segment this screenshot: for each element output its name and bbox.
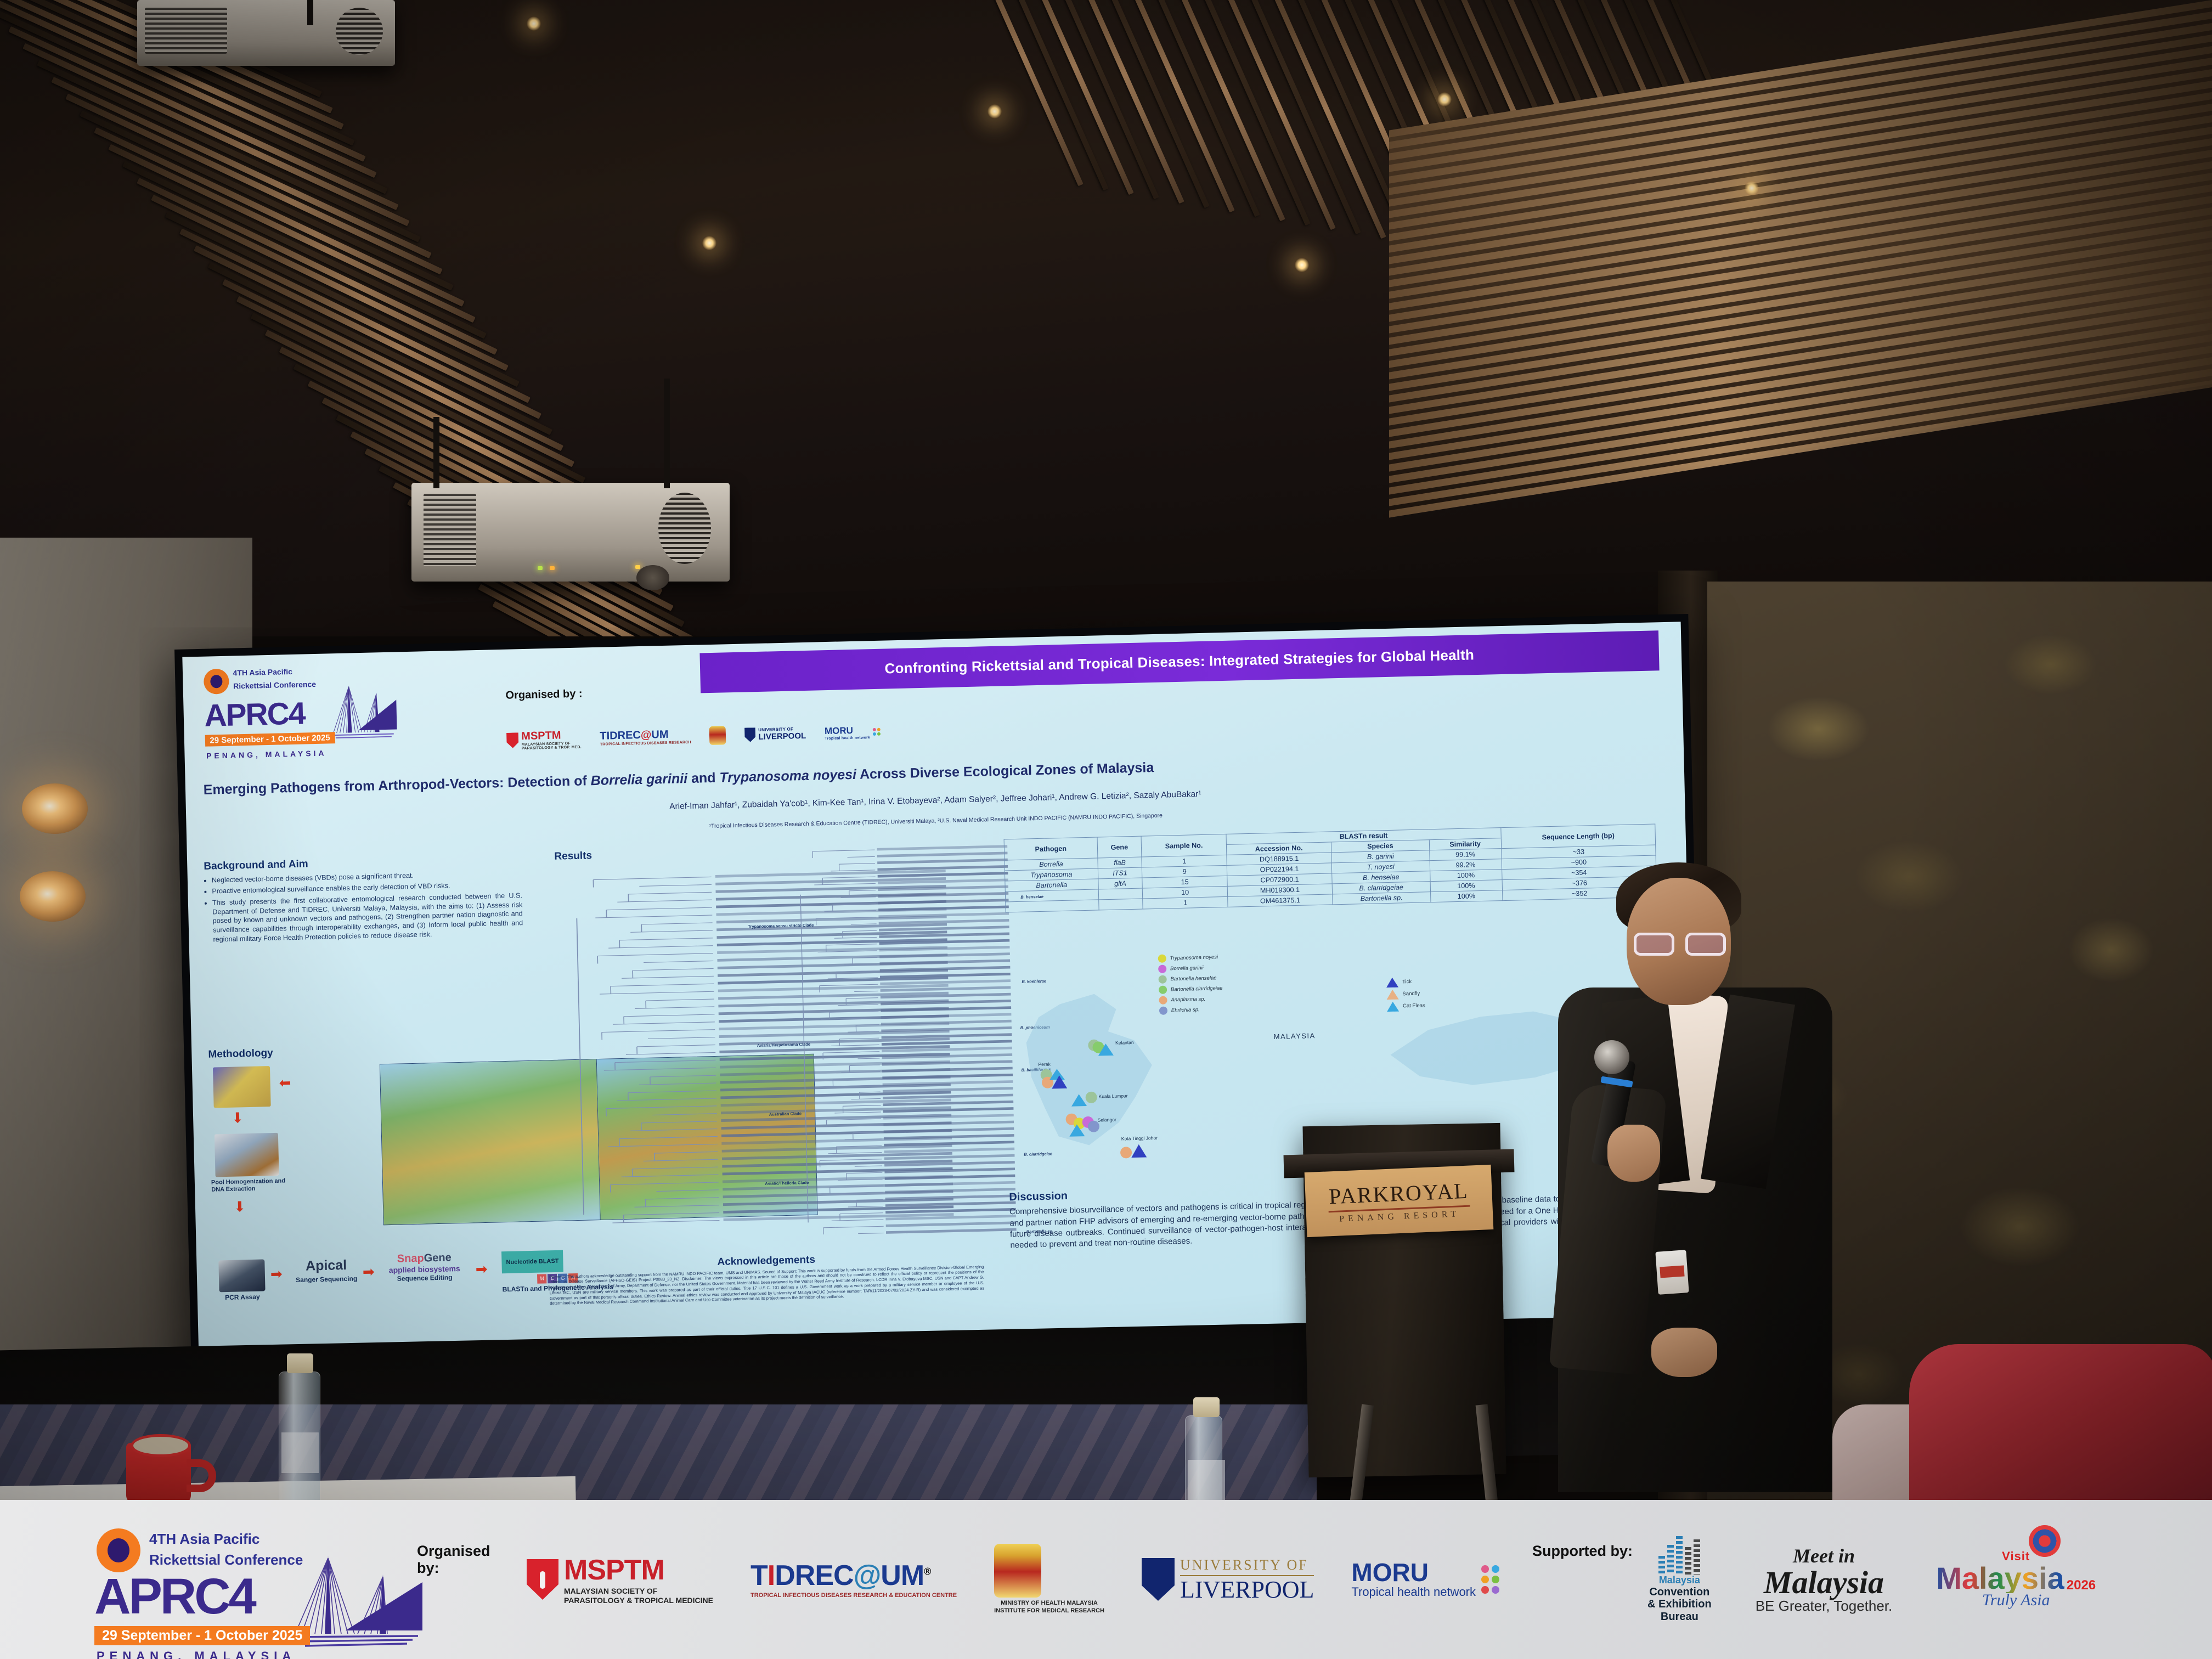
workflow-step-sequence-editing: SnapGene applied biosystems Sequence Edi… <box>388 1251 460 1283</box>
tick-icon <box>97 1528 140 1572</box>
cell-gene: ITS1 <box>1098 867 1142 879</box>
speaker-name-badge <box>1655 1250 1689 1295</box>
pathogen-legend: Trypanosoma noyesiBorrelia gariniiBarton… <box>1158 953 1223 1017</box>
applied-biosystems-logo: applied biosystems <box>389 1264 460 1274</box>
legend-label: Borrelia garinii <box>1170 964 1204 971</box>
col-sample-no: Sample No. <box>1141 834 1227 857</box>
projector-mount-rod <box>664 379 670 488</box>
workflow-step-sanger: Apical Sanger Sequencing <box>295 1257 357 1284</box>
legend-label: Bartonella clarridgeiae <box>1171 985 1223 992</box>
shield-icon <box>527 1559 558 1600</box>
mceb-line1: Malaysia <box>1647 1575 1712 1586</box>
banner-logo-acronym: APRC4 <box>94 1571 255 1622</box>
mim-tagline: BE Greater, Together. <box>1756 1598 1893 1615</box>
cell-species: Bartonella sp. <box>1333 892 1431 905</box>
ceiling-downlight <box>1745 181 1759 195</box>
cell-gene: flaB <box>1097 857 1142 868</box>
ceiling-projector-front <box>411 483 730 582</box>
workflow-step-label: Sequence Editing <box>389 1274 460 1283</box>
banner-aprc-logo: 4TH Asia Pacific Rickettsial Conference … <box>0 1500 417 1659</box>
background-bullet-list: Neglected vector-borne diseases (VBDs) p… <box>204 868 523 945</box>
legend-label: Ehrlichia sp. <box>1171 1007 1200 1013</box>
conference-photo-scene: Confronting Rickettsial and Tropical Dis… <box>0 0 2212 1659</box>
vm-line2: Malaysia <box>1936 1564 2064 1593</box>
aprc-logo-location: PENANG, MALAYSIA <box>206 749 327 760</box>
aprc-logo-dates: 29 September - 1 October 2025 <box>205 732 335 747</box>
hibiscus-flower-icon <box>2029 1525 2061 1557</box>
speaker-hand-on-lectern <box>1651 1328 1717 1377</box>
mim-line1: Meet in <box>1756 1544 1893 1567</box>
eyeglasses-icon <box>1685 933 1726 956</box>
legend-dot-icon <box>1158 964 1166 973</box>
arrow-left-icon: ⬅ <box>279 1075 291 1090</box>
cell-accession: OM461375.1 <box>1228 894 1333 907</box>
speaker-hand-holding-mic <box>1607 1125 1660 1182</box>
legend-item: Bartonella clarridgeiae <box>1159 984 1223 994</box>
arrow-down-icon: ⬇ <box>232 1110 244 1125</box>
bottle-cap <box>287 1353 313 1373</box>
banner-logo-dates: 29 September - 1 October 2025 <box>94 1626 310 1645</box>
site-name: Selangor <box>1098 1117 1116 1123</box>
aprc-logo-acronym: APRC4 <box>204 695 306 733</box>
penang-bridge-icon <box>310 676 399 739</box>
ministry-of-health-logo: MINISTRY OF HEALTH MALAYSIAINSTITUTE FOR… <box>994 1544 1104 1615</box>
legend-dot-icon <box>1158 954 1166 962</box>
background-bullet: This study presents the first collaborat… <box>212 891 523 944</box>
legend-item: Sandfly <box>1386 989 1425 1000</box>
workflow-step-label: PCR Assay <box>219 1293 266 1302</box>
crest-icon <box>994 1544 1041 1598</box>
legend-label: Anaplasma sp. <box>1171 996 1205 1002</box>
workflow-step-pcr: PCR Assay <box>218 1259 266 1302</box>
site-name: Kota Tinggi Johor <box>1121 1135 1158 1142</box>
poster-title-species-2: Trypanosoma noyesi <box>719 766 856 785</box>
bottle-label <box>281 1432 319 1473</box>
cell-similarity: 100% <box>1430 890 1502 902</box>
aprc-logo-line2: Rickettsial Conference <box>233 680 316 691</box>
poster-title-mid: and <box>687 770 720 786</box>
legend-dot-icon <box>1158 975 1166 983</box>
bottle-cap <box>1193 1397 1220 1417</box>
ceiling-downlight <box>1437 92 1452 106</box>
arrow-right-icon: ➡ <box>475 1261 487 1276</box>
legend-item: Trypanosoma noyesi <box>1158 953 1222 963</box>
legend-label: Bartonella henselae <box>1170 975 1216 982</box>
poster-organised-by-label: Organised by : <box>505 687 583 702</box>
col-gene: Gene <box>1097 836 1142 858</box>
legend-triangle-icon <box>1386 989 1398 1000</box>
legend-triangle-icon <box>1387 1001 1399 1012</box>
peninsular-malaysia-map <box>380 1059 600 1225</box>
apical-logo: Apical <box>295 1257 357 1274</box>
moru-logo: MORU Tropical health network <box>825 724 881 740</box>
mceb-line2: Convention & Exhibition Bureau <box>1647 1586 1712 1623</box>
vm-year: 2026 <box>2067 1578 2096 1593</box>
arrow-right-icon: ➡ <box>270 1266 283 1281</box>
dna-extraction-kit-photo <box>215 1133 279 1177</box>
projector-mount-rod <box>307 0 313 25</box>
coffee-mug <box>126 1443 191 1503</box>
eyeglasses-icon <box>1634 933 1674 956</box>
map-country-label: MALAYSIA <box>1273 1031 1315 1041</box>
methodology-step-label: Pool Homogenization and DNA Extraction <box>211 1177 294 1193</box>
legend-label: Tick <box>1402 979 1412 985</box>
cell-pathogen <box>1006 900 1099 912</box>
ceiling-downlight <box>988 104 1002 119</box>
projector-status-led <box>538 566 543 570</box>
visit-malaysia-2026-logo: Visit Malaysia 2026 Truly Asia <box>1936 1549 2096 1609</box>
workflow-step-label: Sanger Sequencing <box>296 1275 357 1284</box>
tidrec-logo: TIDREC@UM TROPICAL INFECTIOUS DISEASES R… <box>600 728 691 747</box>
poster-title-post: Across Diverse Ecological Zones of Malay… <box>856 760 1154 782</box>
legend-item: Borrelia garinii <box>1158 963 1222 973</box>
bottom-sponsor-banner: 4TH Asia Pacific Rickettsial Conference … <box>0 1500 2212 1659</box>
banner-supported-col: Supported by: <box>1532 1500 1647 1659</box>
poster-aprc-logo: 4TH Asia Pacific Rickettsial Conference … <box>202 662 459 780</box>
legend-item: Cat Fleas <box>1387 1001 1425 1012</box>
shield-icon <box>1142 1558 1175 1601</box>
tick-icon <box>203 669 229 695</box>
site-name: Perak <box>1038 1061 1050 1067</box>
banner-organiser-logos: MSPTM MALAYSIAN SOCIETY OFPARASITOLOGY &… <box>516 1544 1499 1615</box>
mim-line2: Malaysia <box>1756 1567 1893 1598</box>
university-of-liverpool-logo: UNIVERSITY OF LIVERPOOL <box>744 726 806 742</box>
col-sequence-length: Sequence Length (bp) <box>1500 824 1656 849</box>
legend-item: Bartonella henselae <box>1158 974 1222 984</box>
poster-title-species-1: Borrelia garinii <box>590 771 687 788</box>
red-seat <box>1909 1344 2212 1514</box>
poster-acknowledgements-section: Acknowledgements Partners: The authors a… <box>549 1250 984 1306</box>
legend-dot-icon <box>1159 985 1167 994</box>
legend-item: Ehrlichia sp. <box>1159 1005 1223 1015</box>
legend-label: Cat Fleas <box>1403 1003 1425 1009</box>
projector-lens <box>636 565 669 590</box>
vector-legend: TickSandflyCat Fleas <box>1386 977 1425 1014</box>
ceiling-downlight <box>527 16 541 31</box>
blastn-results-table: Pathogen Gene Sample No. BLASTn result S… <box>1004 824 1657 913</box>
tick-specimen-photo <box>213 1066 271 1108</box>
banner-supporter-logos: Malaysia Convention & Exhibition Bureau … <box>1647 1536 2096 1623</box>
building-bars-icon <box>1647 1536 1712 1575</box>
banner-organised-label: Organised by: <box>417 1543 516 1577</box>
moru-logo: MORU Tropical health network <box>1351 1560 1499 1599</box>
dots-icon <box>1481 1565 1499 1594</box>
microphone-head-icon <box>1594 1040 1629 1074</box>
venue-nameplate: PARKROYAL PENANG RESORT <box>1305 1165 1494 1237</box>
cell-gene <box>1098 899 1143 910</box>
bottle-label <box>1188 1460 1225 1500</box>
ceiling-downlight <box>1295 258 1309 272</box>
aprc-logo-line1: 4TH Asia Pacific <box>233 667 292 678</box>
banner-organised-col: Organised by: <box>417 1500 516 1659</box>
banner-logo-line1: 4TH Asia Pacific <box>149 1531 259 1548</box>
venue-name: PARKROYAL <box>1328 1177 1469 1209</box>
dots-icon <box>873 728 881 736</box>
projector-mount-rod <box>433 417 439 488</box>
crest-icon <box>709 726 726 745</box>
legend-item: Anaplasma sp. <box>1159 995 1223 1005</box>
poster-organiser-logos: MSPTM MALAYSIAN SOCIETY OFPARASITOLOGY &… <box>506 699 1197 766</box>
projector-status-led <box>635 565 640 569</box>
shield-icon <box>506 732 519 748</box>
university-of-liverpool-logo: UNIVERSITY OF LIVERPOOL <box>1142 1557 1314 1602</box>
mceb-logo: Malaysia Convention & Exhibition Bureau <box>1647 1536 1712 1623</box>
poster-conference-title: Confronting Rickettsial and Tropical Dis… <box>884 647 1474 678</box>
legend-label: Sandfly <box>1402 991 1420 997</box>
water-bottle <box>279 1372 320 1519</box>
legend-item: Tick <box>1386 977 1425 988</box>
tidrec-logo: TIDREC@UM® TROPICAL INFECTIOUS DISEASES … <box>751 1559 957 1600</box>
venue-subtitle: PENANG RESORT <box>1339 1209 1460 1224</box>
site-name: Kelantan <box>1115 1040 1134 1046</box>
ministry-of-health-logo <box>709 726 726 745</box>
projector-status-led <box>550 566 555 570</box>
wall-sconce-upper <box>22 783 88 834</box>
legend-label: Trypanosoma noyesi <box>1170 954 1218 961</box>
msptm-logo: MSPTM MALAYSIAN SOCIETY OFPARASITOLOGY &… <box>506 729 582 751</box>
shield-icon <box>744 727 756 742</box>
arrow-right-icon: ➡ <box>363 1264 375 1279</box>
arrow-down-icon: ⬇ <box>234 1199 246 1214</box>
wall-sconce-lower <box>20 871 86 922</box>
msptm-logo: MSPTM MALAYSIAN SOCIETY OFPARASITOLOGY &… <box>527 1554 713 1606</box>
cell-gene: gltA <box>1098 878 1142 889</box>
col-pathogen: Pathogen <box>1004 837 1097 860</box>
poster-conference-strip: Confronting Rickettsial and Tropical Dis… <box>699 631 1660 693</box>
cell-gene <box>1098 888 1143 900</box>
legend-dot-icon <box>1159 996 1167 1004</box>
banner-supported-label: Supported by: <box>1532 1543 1633 1560</box>
pcr-machine-icon <box>218 1259 265 1292</box>
banner-logo-location: PENANG, MALAYSIA <box>97 1649 296 1659</box>
meet-in-malaysia-logo: Meet in Malaysia BE Greater, Together. <box>1756 1544 1893 1615</box>
ceiling-projector-rear <box>137 0 395 66</box>
legend-triangle-icon <box>1386 977 1398 988</box>
site-name: Kuala Lumpur <box>1098 1093 1127 1099</box>
legend-dot-icon <box>1159 1006 1167 1014</box>
poster-background-section: Background and Aim Neglected vector-born… <box>204 853 523 947</box>
ceiling-downlight <box>702 236 716 250</box>
cell-sample: 1 <box>1143 897 1228 910</box>
